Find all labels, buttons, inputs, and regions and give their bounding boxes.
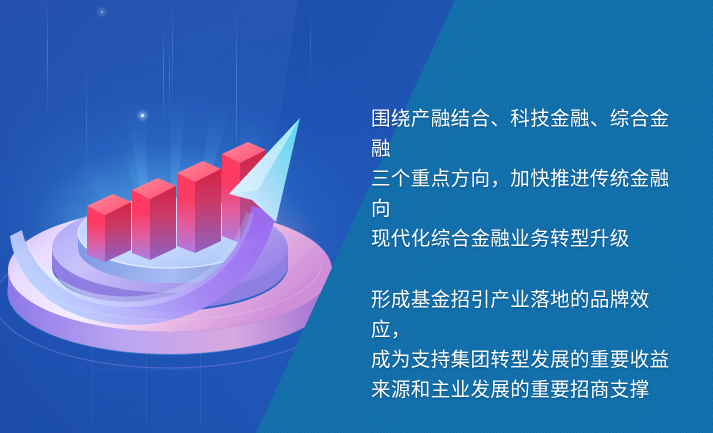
promo-banner: 围绕产融结合、科技金融、综合金融 三个重点方向，加快推进传统金融向 现代化综合金…	[0, 0, 713, 433]
copy-block: 围绕产融结合、科技金融、综合金融 三个重点方向，加快推进传统金融向 现代化综合金…	[371, 104, 681, 405]
bar-1	[87, 194, 131, 262]
paragraph-1: 围绕产融结合、科技金融、综合金融 三个重点方向，加快推进传统金融向 现代化综合金…	[371, 104, 681, 254]
paragraph-2: 形成基金招引产业落地的品牌效应， 成为支持集团转型发展的重要收益 来源和主业发展…	[371, 285, 681, 405]
bar-2	[132, 178, 176, 260]
bar-3	[177, 161, 221, 253]
